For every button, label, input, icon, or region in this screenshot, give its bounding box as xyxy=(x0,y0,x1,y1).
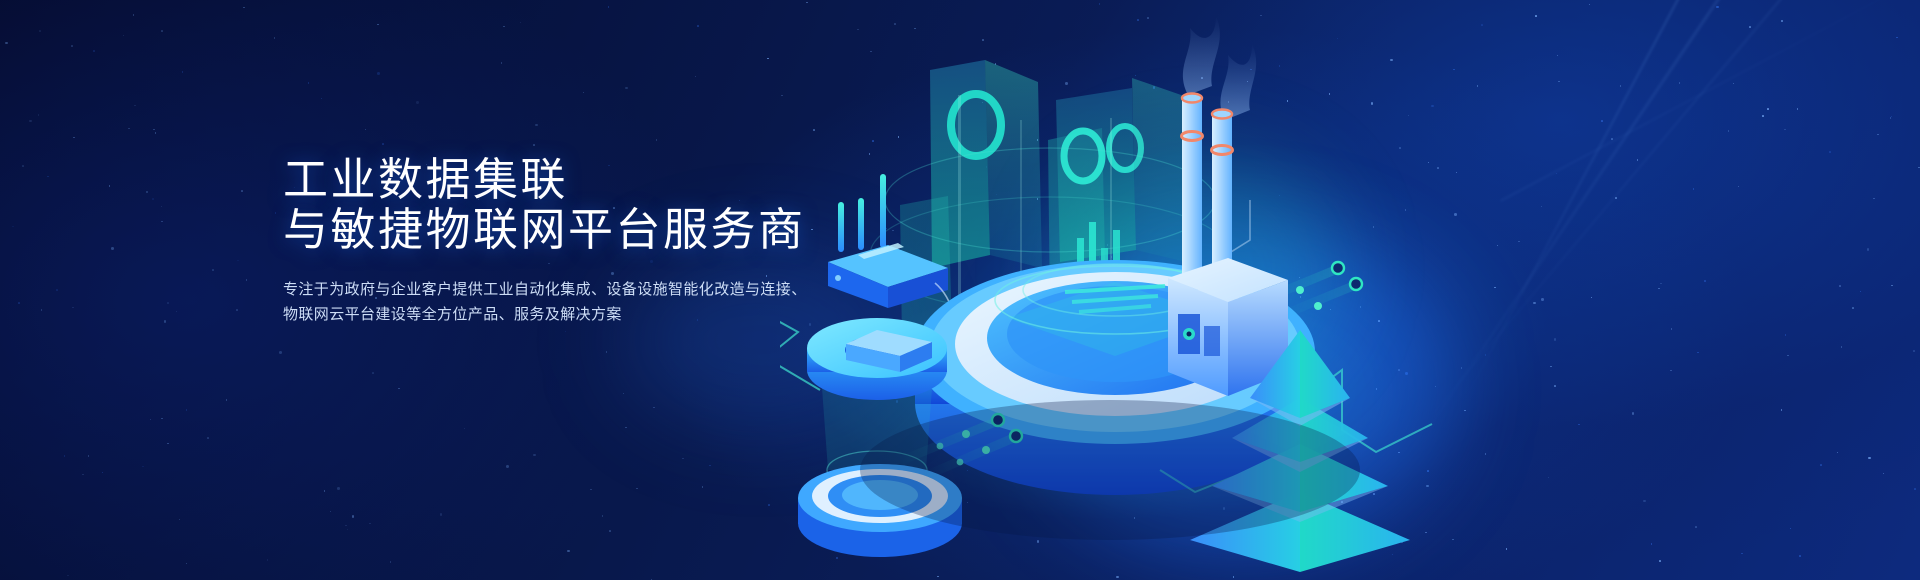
star-dot xyxy=(161,206,163,208)
star-dot xyxy=(226,399,228,401)
star-dot xyxy=(337,487,340,490)
star-dot xyxy=(111,247,114,250)
hero-illustration xyxy=(780,0,1920,580)
star-dot xyxy=(602,515,604,517)
star-dot xyxy=(583,92,585,94)
star-dot xyxy=(88,455,90,457)
star-dot xyxy=(623,393,625,395)
star-dot xyxy=(520,22,522,24)
star-dot xyxy=(330,511,332,513)
star-dot xyxy=(533,144,535,146)
star-dot xyxy=(164,320,167,323)
star-dot xyxy=(279,351,282,354)
star-dot xyxy=(608,6,610,8)
star-dot xyxy=(12,226,14,228)
star-dot xyxy=(167,443,169,445)
star-dot xyxy=(38,114,40,116)
star-dot xyxy=(308,82,310,84)
star-dot xyxy=(416,101,419,104)
star-dot xyxy=(41,309,43,311)
star-dot xyxy=(695,76,697,78)
factory-smokestacks xyxy=(1168,16,1288,396)
star-dot xyxy=(567,550,570,553)
star-dot xyxy=(102,472,104,474)
star-dot xyxy=(123,35,125,37)
star-dot xyxy=(535,124,538,127)
star-dot xyxy=(656,139,658,141)
star-dot xyxy=(72,307,74,309)
star-dot xyxy=(161,418,163,420)
star-dot xyxy=(236,309,238,311)
star-dot xyxy=(565,331,567,333)
star-dot xyxy=(133,14,135,16)
star-dot xyxy=(243,7,245,9)
star-dot xyxy=(179,519,181,521)
star-dot xyxy=(377,72,380,75)
star-dot xyxy=(398,388,400,390)
star-dot xyxy=(39,30,41,32)
star-dot xyxy=(440,513,443,516)
star-dot xyxy=(182,71,184,73)
star-dot xyxy=(377,24,379,26)
star-dot xyxy=(128,128,130,130)
star-dot xyxy=(682,458,684,460)
star-dot xyxy=(709,465,711,467)
star-dot xyxy=(134,105,136,107)
star-dot xyxy=(155,132,157,134)
star-dot xyxy=(609,530,611,532)
star-dot xyxy=(207,437,209,439)
star-dot xyxy=(501,62,503,64)
star-dot xyxy=(142,466,144,468)
star-dot xyxy=(369,523,371,525)
star-dot xyxy=(533,454,536,457)
star-dot xyxy=(321,98,323,100)
star-dot xyxy=(274,37,276,39)
star-dot xyxy=(67,575,69,577)
star-dot xyxy=(109,185,111,187)
star-dot xyxy=(146,191,149,194)
star-dot xyxy=(590,489,592,491)
star-dot xyxy=(768,504,770,506)
star-dot xyxy=(702,486,704,488)
star-dot xyxy=(64,455,66,457)
star-dot xyxy=(22,165,24,167)
star-dot xyxy=(176,311,178,313)
star-dot xyxy=(186,409,188,411)
star-dot xyxy=(152,198,154,200)
star-dot xyxy=(18,302,20,304)
star-dot xyxy=(82,474,84,476)
star-dot xyxy=(150,419,152,421)
star-dot xyxy=(153,129,155,131)
star-dot xyxy=(161,30,163,32)
star-dot xyxy=(267,559,269,561)
star-dot xyxy=(161,221,163,223)
star-dot xyxy=(503,26,505,28)
star-dot xyxy=(345,525,347,527)
star-dot xyxy=(372,372,374,374)
ground-shadow xyxy=(860,400,1360,540)
star-dot xyxy=(464,428,466,430)
star-dot xyxy=(5,42,8,45)
star-dot xyxy=(246,279,248,281)
star-dot xyxy=(71,45,73,47)
star-dot xyxy=(275,212,277,214)
star-dot xyxy=(606,351,608,353)
star-dot xyxy=(382,143,384,145)
star-dot xyxy=(636,488,638,490)
star-dot xyxy=(506,465,509,468)
star-dot xyxy=(653,407,655,409)
star-dot xyxy=(56,289,58,291)
star-dot xyxy=(73,137,75,139)
star-dot xyxy=(352,515,355,518)
star-dot xyxy=(167,302,169,304)
star-dot xyxy=(697,25,699,27)
star-dot xyxy=(93,50,95,52)
star-dot xyxy=(29,120,32,123)
star-dot xyxy=(324,490,326,492)
star-dot xyxy=(212,269,214,271)
star-dot xyxy=(625,87,628,90)
star-dot xyxy=(347,529,349,531)
star-dot xyxy=(390,561,392,563)
star-dot xyxy=(237,260,239,262)
star-dot xyxy=(241,190,243,192)
star-dot xyxy=(186,563,188,565)
star-dot xyxy=(767,58,769,60)
hero-banner: 工业数据集联 与敏捷物联网平台服务商 专注于为政府与企业客户提供工业自动化集成、… xyxy=(0,0,1920,580)
star-dot xyxy=(365,129,367,131)
star-dot xyxy=(47,176,49,178)
star-dot xyxy=(625,427,627,429)
